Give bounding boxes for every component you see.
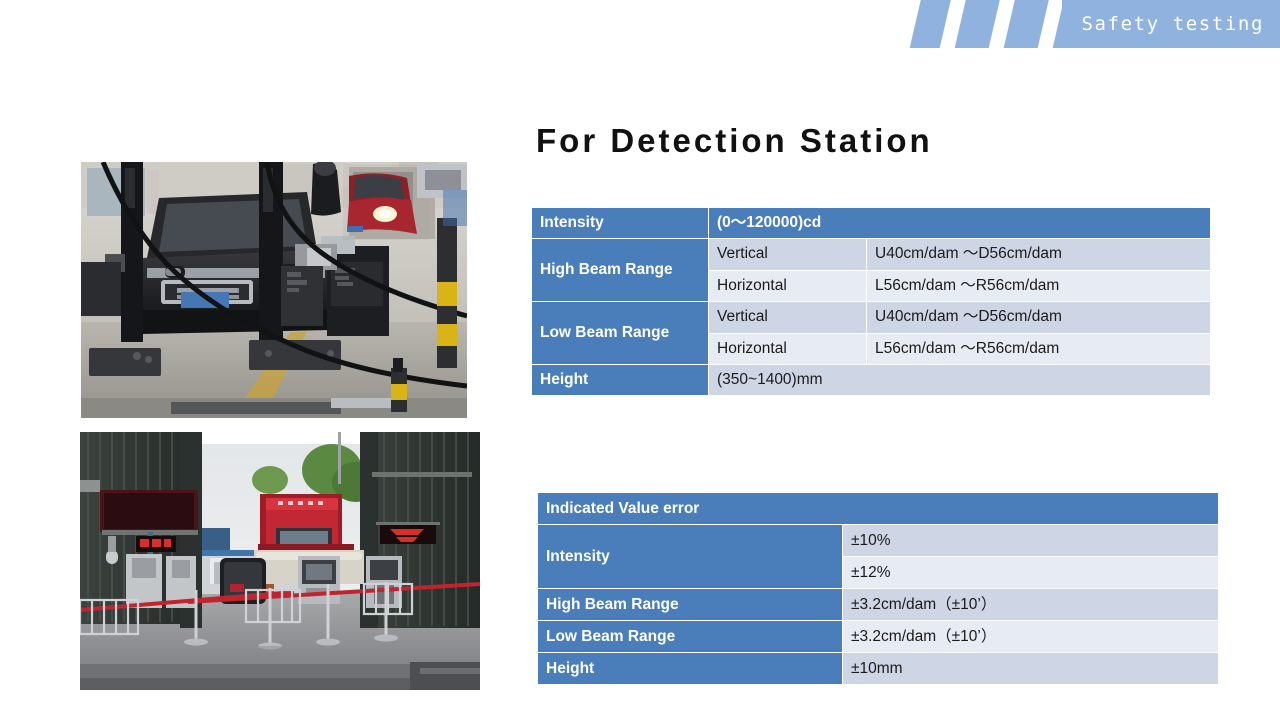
spec-sub-horizontal-low: Horizontal: [709, 334, 866, 365]
banner-stripe-2: [952, 0, 1002, 48]
indicated-value-error-table: Indicated Value error Intensity ±10% ±12…: [537, 492, 1219, 685]
spec-value-horizontal-low: L56cm/dam ～R56cm/dam: [867, 334, 1210, 365]
detection-station-specs-table: Intensity (0～120000)cd High Beam Range V…: [531, 207, 1211, 396]
error-label-high-beam-range: High Beam Range: [538, 589, 842, 620]
error-value-intensity-2: ±12%: [843, 557, 1218, 588]
photo-inspection-bay: [81, 162, 467, 418]
table-row: High Beam Range Vertical U40cm/dam ～D56c…: [532, 239, 1210, 270]
inspection-bay-image: [81, 162, 467, 418]
truck-station-image: [80, 432, 480, 690]
table-row: Height ±10mm: [538, 653, 1218, 684]
spec-sub-vertical-low: Vertical: [709, 302, 866, 333]
page-title: For Detection Station: [536, 122, 933, 160]
spec-value-vertical-low: U40cm/dam ～D56cm/dam: [867, 302, 1210, 333]
error-value-height: ±10mm: [843, 653, 1218, 684]
spec-label-low-beam-range: Low Beam Range: [532, 302, 708, 364]
spec-value-vertical-high: U40cm/dam ～D56cm/dam: [867, 239, 1210, 270]
error-label-low-beam-range: Low Beam Range: [538, 621, 842, 652]
table-row: Low Beam Range Vertical U40cm/dam ～D56cm…: [532, 302, 1210, 333]
spec-value-intensity: (0～120000)cd: [709, 208, 1210, 238]
banner-stripe-3: [1001, 0, 1051, 48]
table-row: Intensity ±10%: [538, 525, 1218, 556]
error-value-low-beam-range: ±3.2cm/dam（±10’）: [843, 621, 1218, 652]
spec-label-intensity: Intensity: [532, 208, 708, 238]
spec-value-horizontal-high: L56cm/dam ～R56cm/dam: [867, 271, 1210, 302]
error-label-intensity: Intensity: [538, 525, 842, 588]
error-label-height: Height: [538, 653, 842, 684]
header-banner: Safety testing: [909, 0, 1280, 48]
error-value-intensity-1: ±10%: [843, 525, 1218, 556]
photo-truck-station: [80, 432, 480, 690]
spec-value-height: (350~1400)mm: [709, 365, 1210, 395]
table-row: Intensity (0～120000)cd: [532, 208, 1210, 238]
table-row: Height (350~1400)mm: [532, 365, 1210, 395]
spec-sub-horizontal-high: Horizontal: [709, 271, 866, 302]
banner-stripe-1: [909, 0, 953, 48]
spec-label-high-beam-range: High Beam Range: [532, 239, 708, 301]
table-row: Low Beam Range ±3.2cm/dam（±10’）: [538, 621, 1218, 652]
spec-label-height: Height: [532, 365, 708, 395]
table-row: Indicated Value error: [538, 493, 1218, 524]
error-value-high-beam-range: ±3.2cm/dam（±10’）: [843, 589, 1218, 620]
spec-sub-vertical-high: Vertical: [709, 239, 866, 270]
table-row: High Beam Range ±3.2cm/dam（±10’）: [538, 589, 1218, 620]
error-table-header: Indicated Value error: [538, 493, 1218, 524]
banner-title: Safety testing: [1081, 0, 1264, 48]
